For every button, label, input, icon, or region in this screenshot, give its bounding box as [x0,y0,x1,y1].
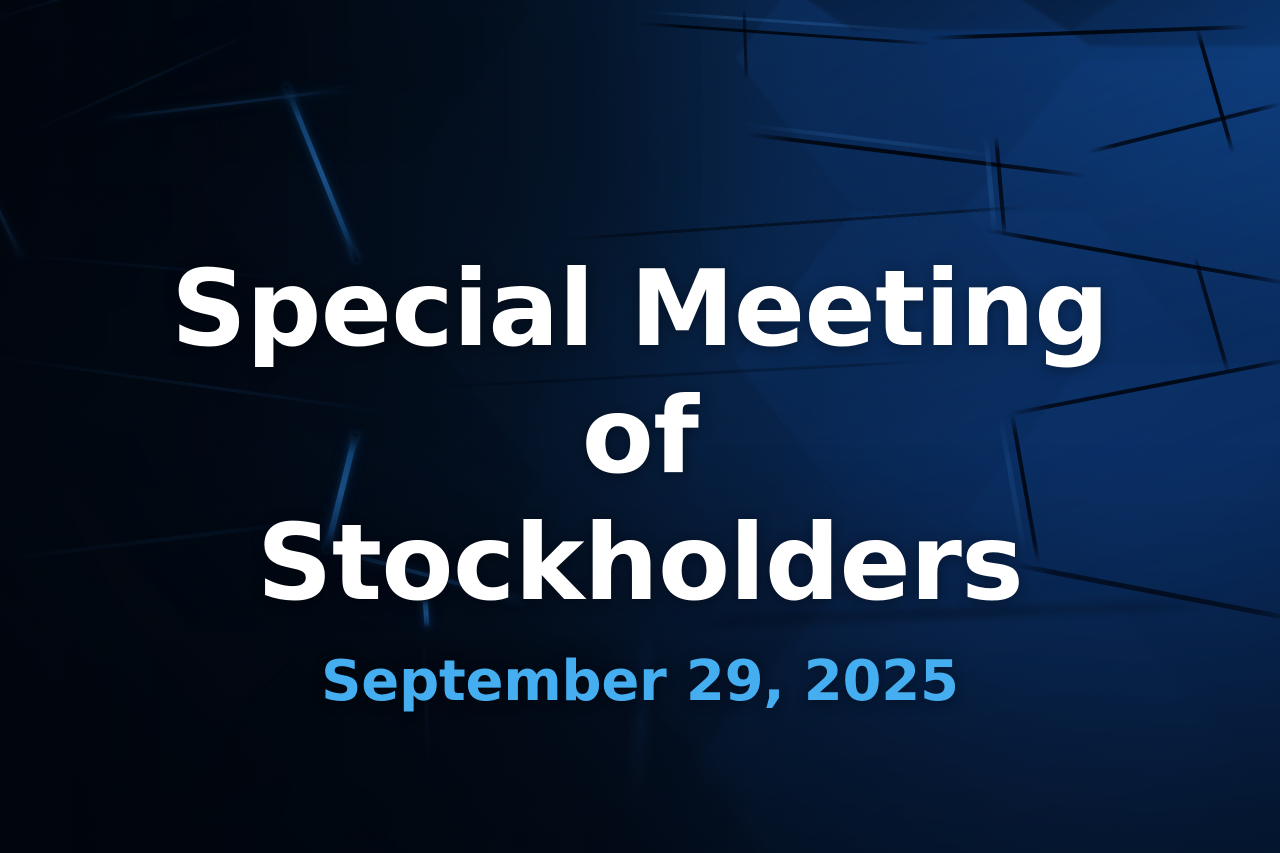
title-slide: Special Meeting ofStockholders September… [0,0,1280,853]
slide-title-line-1: Special Meeting of [171,248,1109,497]
slide-title: Special Meeting ofStockholders [140,246,1140,627]
slide-content: Special Meeting ofStockholders September… [0,0,1280,853]
slide-title-line-2: Stockholders [257,502,1023,624]
slide-subtitle: September 29, 2025 [140,651,1140,713]
